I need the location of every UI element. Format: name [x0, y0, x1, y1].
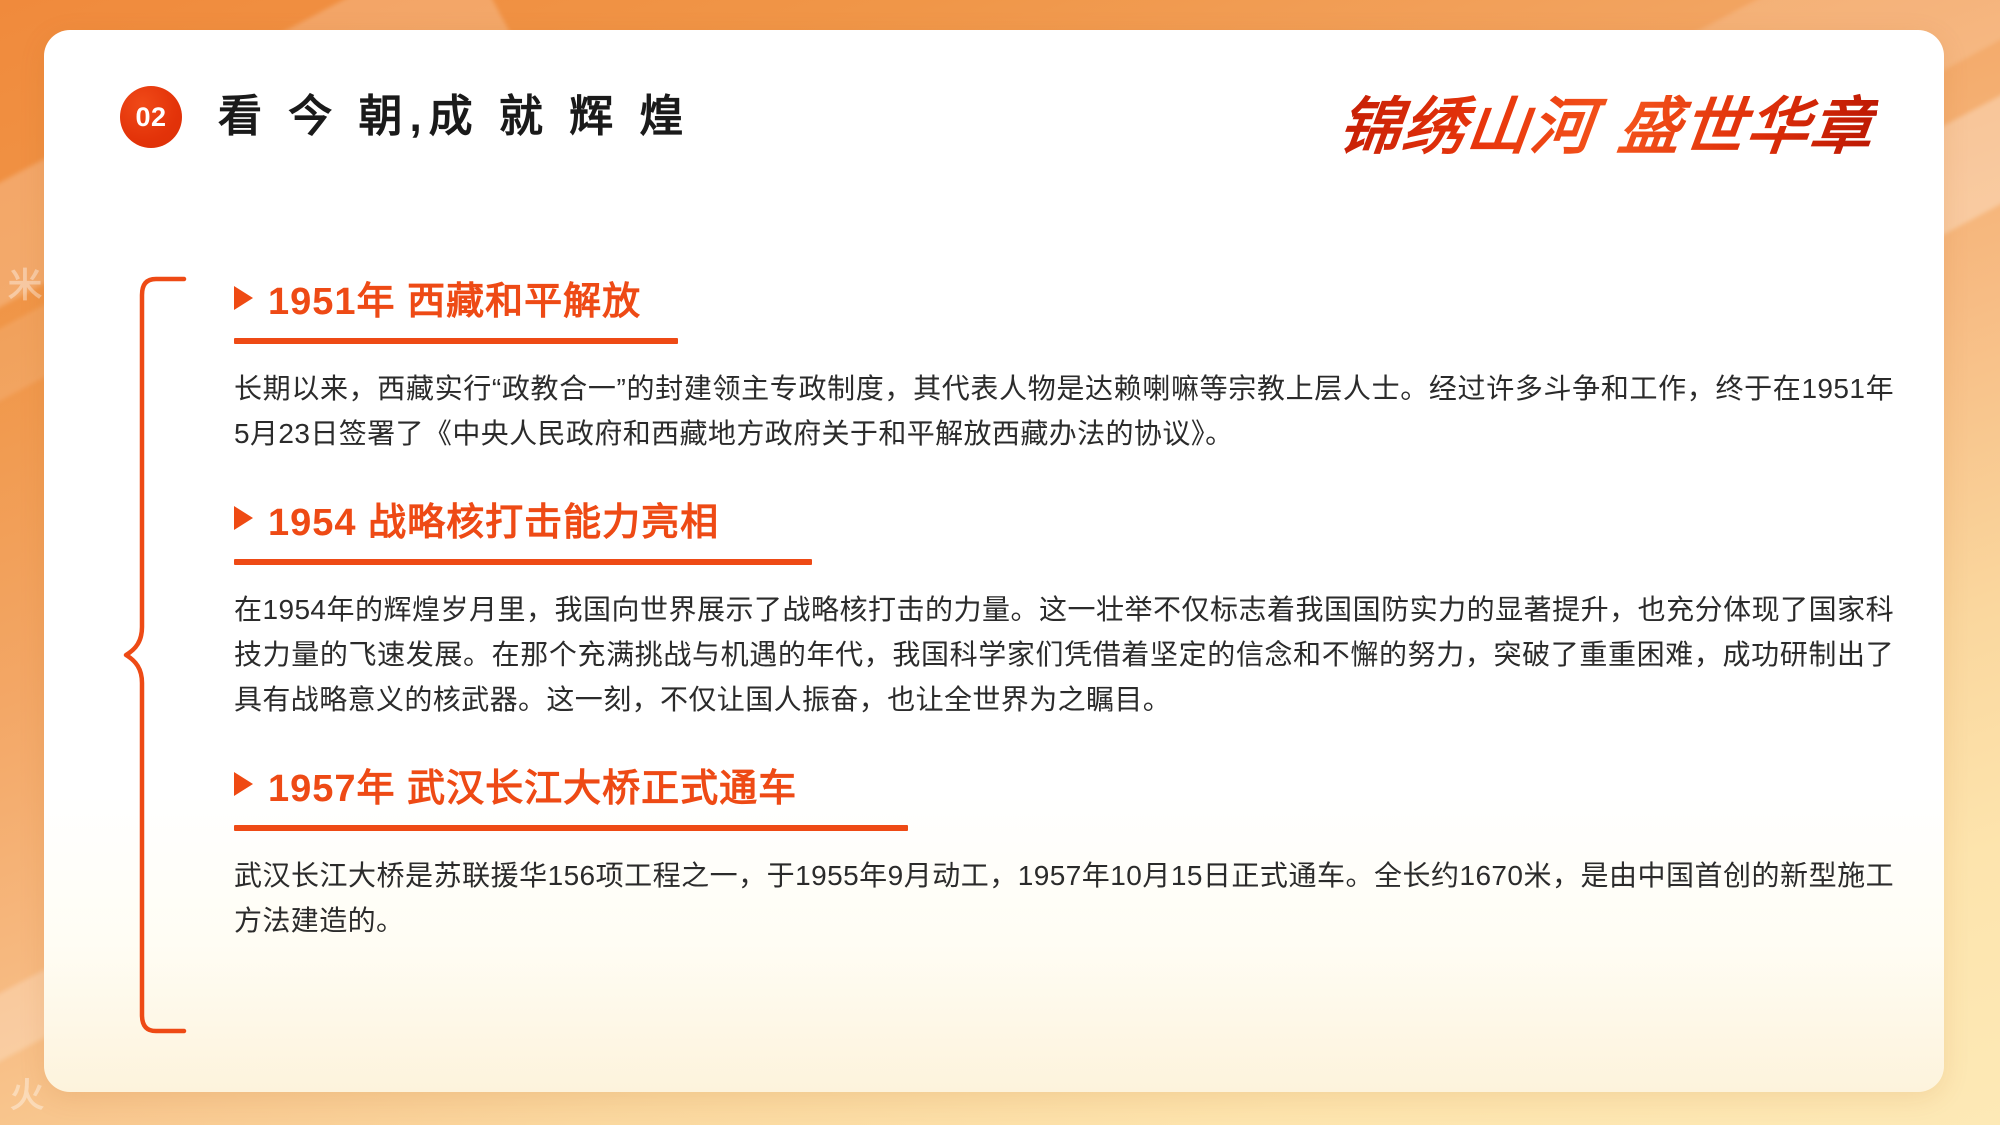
section-body-text: 武汉长江大桥是苏联援华156项工程之一，于1955年9月动工，1957年10月1…	[234, 853, 1894, 944]
section-heading: 1957年 武汉长江大桥正式通车	[234, 757, 1894, 812]
section-number-badge: 02	[120, 86, 182, 148]
triangle-bullet-icon	[234, 286, 253, 310]
section-underline	[234, 338, 678, 344]
slide-card: 02 看 今 朝,成 就 辉 煌 锦绣山河 盛世华章 1951年 西藏和平解放 …	[44, 30, 1944, 1092]
section-heading: 1951年 西藏和平解放	[234, 270, 1894, 325]
section-heading: 1954 战略核打击能力亮相	[234, 491, 1894, 546]
section-block-1951: 1951年 西藏和平解放 长期以来，西藏实行“政教合一”的封建领主专政制度，其代…	[234, 270, 1894, 457]
slide-header: 02 看 今 朝,成 就 辉 煌 锦绣山河 盛世华章	[44, 30, 1944, 180]
triangle-bullet-icon	[234, 506, 253, 530]
section-underline	[234, 825, 908, 831]
section-title: 1957年 武汉长江大桥正式通车	[268, 757, 797, 812]
left-curly-brace-icon	[122, 275, 194, 1035]
triangle-bullet-icon	[234, 772, 253, 796]
brand-calligraphy-logo: 锦绣山河 盛世华章	[1335, 76, 1882, 166]
section-block-1954: 1954 战略核打击能力亮相 在1954年的辉煌岁月里，我国向世界展示了战略核打…	[234, 491, 1894, 723]
section-underline	[234, 559, 812, 565]
section-block-1957: 1957年 武汉长江大桥正式通车 武汉长江大桥是苏联援华156项工程之一，于19…	[234, 757, 1894, 944]
sections-container: 1951年 西藏和平解放 长期以来，西藏实行“政教合一”的封建领主专政制度，其代…	[234, 270, 1894, 944]
background-ghost-mark: 米	[8, 258, 42, 307]
page-title: 看 今 朝,成 就 辉 煌	[218, 80, 690, 144]
section-title: 1951年 西藏和平解放	[268, 270, 641, 325]
section-body-text: 在1954年的辉煌岁月里，我国向世界展示了战略核打击的力量。这一壮举不仅标志着我…	[234, 587, 1894, 723]
section-title: 1954 战略核打击能力亮相	[268, 491, 719, 546]
background-ghost-mark: 火	[10, 1068, 44, 1117]
section-body-text: 长期以来，西藏实行“政教合一”的封建领主专政制度，其代表人物是达赖喇嘛等宗教上层…	[234, 366, 1894, 457]
